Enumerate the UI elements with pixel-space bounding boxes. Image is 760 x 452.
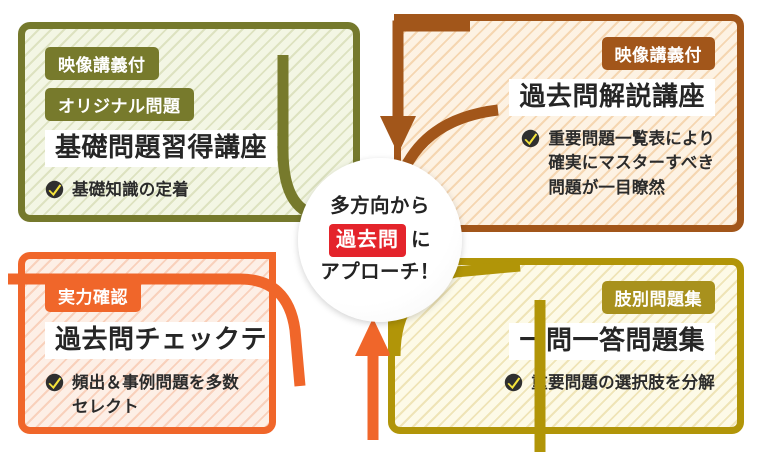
arrow-brown-to-center xyxy=(380,26,498,168)
center-line-2: 過去問に xyxy=(320,224,439,257)
center-circle: 多方向から 過去問に アプローチ！ xyxy=(298,158,462,322)
infographic-stage: 映像講義付 オリジナル問題 基礎問題習得講座 基礎知識の定着 xyxy=(0,0,760,452)
center-badge-kakomon: 過去問 xyxy=(329,224,406,257)
center-line-3: アプローチ！ xyxy=(320,258,439,288)
center-circle-text: 多方向から 過去問に アプローチ！ xyxy=(320,192,439,288)
center-line-2-suffix: に xyxy=(411,229,431,251)
center-line-1: 多方向から xyxy=(320,192,439,222)
